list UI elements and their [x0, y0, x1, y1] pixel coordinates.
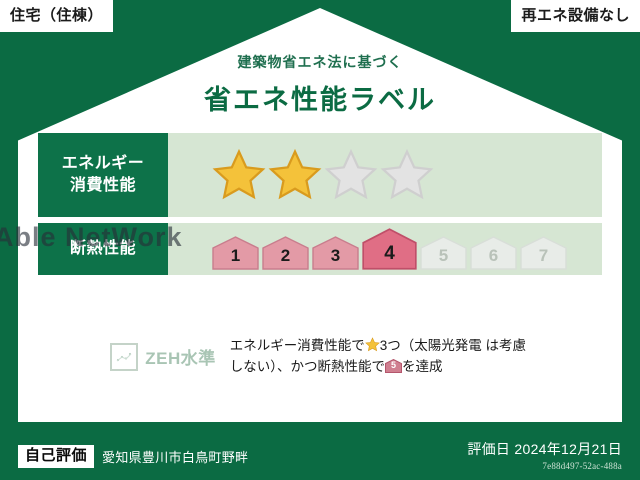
- zeh-desc-line1-a: エネルギー消費性能で: [230, 338, 365, 353]
- house-icon: [312, 236, 359, 270]
- title-subtitle: 建築物省エネ法に基づく: [0, 52, 640, 72]
- energy-label-line1: エネルギー: [62, 153, 145, 175]
- insulation-step-2: 2: [262, 236, 309, 270]
- self-evaluation-badge: 自己評価: [18, 445, 94, 469]
- zeh-badge: ZEH水準: [110, 343, 216, 371]
- zeh-square-icon: [110, 343, 138, 371]
- zeh-note: ZEH水準 エネルギー消費性能で 3つ（太陽光発電 は考慮しない）、かつ断熱性能…: [38, 336, 602, 378]
- page-title: 省エネ性能ラベル: [0, 78, 640, 117]
- insulation-step-7: 7: [520, 236, 567, 270]
- inline-house-icon: 5: [385, 359, 402, 373]
- insulation-step-6: 6: [470, 236, 517, 270]
- house-icon: [420, 236, 467, 270]
- star-filled-icon: [212, 148, 266, 202]
- energy-label-line2: 消費性能: [70, 175, 136, 197]
- energy-performance-value: [168, 133, 602, 217]
- star-empty-icon: [380, 148, 434, 202]
- insulation-performance-row: 断熱性能 1234567: [38, 223, 602, 275]
- star-empty-icon: [324, 148, 378, 202]
- insulation-scale: 1234567: [212, 228, 567, 270]
- renewable-energy-tag: 再エネ設備なし: [511, 0, 640, 32]
- insulation-step-5: 5: [420, 236, 467, 270]
- property-address: 愛知県豊川市白鳥町野畔: [102, 447, 248, 466]
- insulation-performance-value: 1234567: [168, 223, 602, 275]
- zeh-description: エネルギー消費性能で 3つ（太陽光発電 は考慮しない）、かつ断熱性能で 5を達成: [230, 336, 530, 378]
- zeh-desc-line2-b: を達成: [402, 359, 443, 374]
- insulation-performance-label: 断熱性能: [38, 223, 168, 275]
- star-filled-icon: [268, 148, 322, 202]
- energy-performance-label: エネルギー 消費性能: [38, 133, 168, 217]
- house-icon: [362, 228, 417, 270]
- label-title-block: 建築物省エネ法に基づく 省エネ性能ラベル: [0, 52, 640, 117]
- footer-left: 自己評価 愛知県豊川市白鳥町野畔: [18, 445, 248, 469]
- insulation-step-3: 3: [312, 236, 359, 270]
- evaluation-id: 7e88d497-52ac-488a: [467, 461, 622, 471]
- metrics-container: エネルギー 消費性能 断熱性能 1234567: [38, 133, 602, 281]
- energy-star-rating: [212, 148, 434, 202]
- insulation-step-4: 4: [362, 228, 417, 270]
- zeh-desc-line1-b: 3つ（太陽光発電: [380, 338, 482, 353]
- zeh-badge-label: ZEH水準: [145, 344, 216, 369]
- inline-star-icon: [365, 337, 380, 352]
- label-footer: 自己評価 愛知県豊川市白鳥町野畔 評価日 2024年12月21日 7e88d49…: [0, 428, 640, 480]
- insulation-step-1: 1: [212, 236, 259, 270]
- house-icon: [520, 236, 567, 270]
- house-icon: [262, 236, 309, 270]
- building-type-tag: 住宅（住棟）: [0, 0, 113, 32]
- energy-performance-row: エネルギー 消費性能: [38, 133, 602, 217]
- house-icon: [212, 236, 259, 270]
- footer-right: 評価日 2024年12月21日 7e88d497-52ac-488a: [467, 439, 622, 471]
- insulation-label-text: 断熱性能: [70, 238, 136, 260]
- house-icon: [470, 236, 517, 270]
- evaluation-date: 評価日 2024年12月21日: [467, 439, 622, 459]
